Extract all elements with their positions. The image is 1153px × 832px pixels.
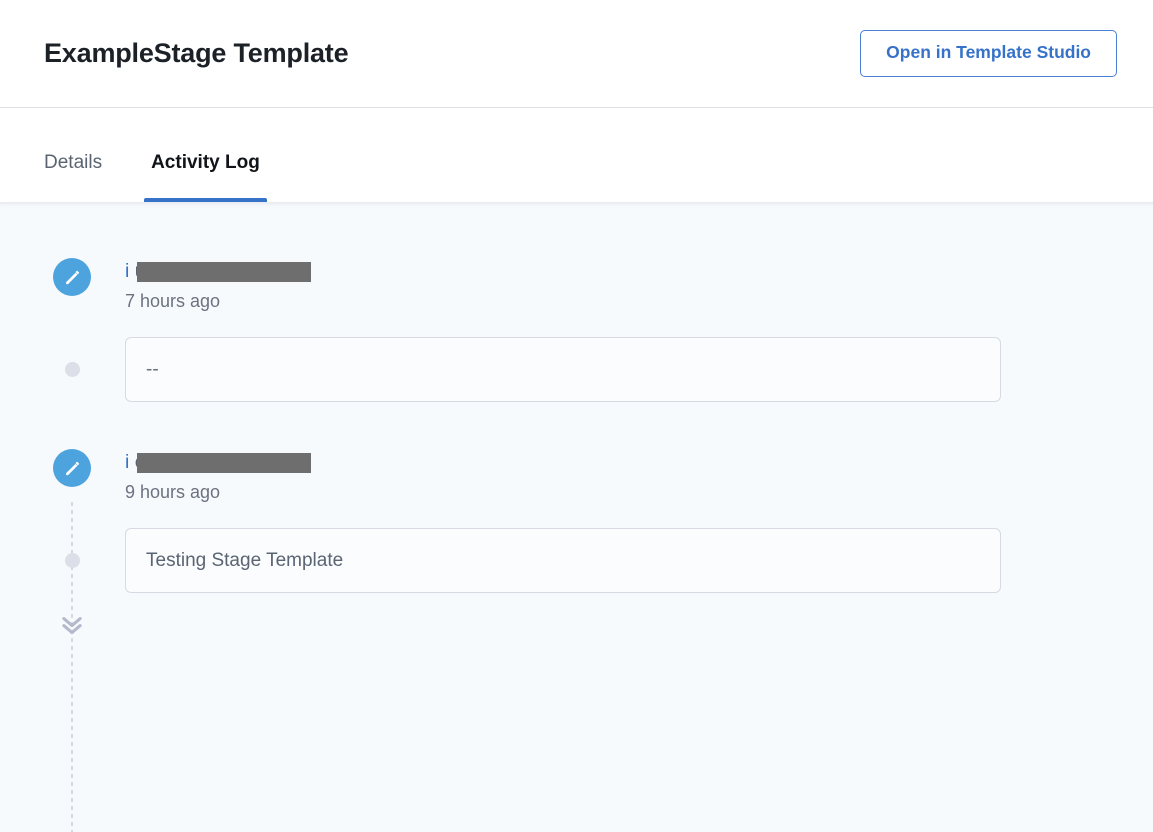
activity-entry-header: i created v1 9 hours ago [0, 449, 1153, 503]
pencil-icon [62, 267, 82, 287]
activity-log-panel: i updated v1 7 hours ago -- [0, 202, 1153, 832]
action-verb: created [135, 451, 205, 473]
load-more-row [0, 611, 1153, 651]
version-link[interactable]: v1 [205, 451, 226, 473]
actor-name-text: i [125, 260, 129, 282]
activity-note-card: -- [125, 337, 1001, 402]
tab-bar: Details Activity Log [0, 108, 1153, 202]
activity-entry-summary: i updated v1 [125, 258, 231, 284]
entry-spacer [0, 402, 1153, 449]
timeline-dot [65, 553, 80, 568]
actor-name-text: i [125, 451, 129, 473]
page-title: ExampleStage Template [44, 38, 348, 69]
action-verb: updated [135, 260, 211, 282]
avatar [53, 258, 91, 296]
avatar [53, 449, 91, 487]
activity-entry-body: Testing Stage Template [0, 528, 1153, 593]
page-header: ExampleStage Template Open in Template S… [0, 0, 1153, 108]
activity-timestamp: 9 hours ago [125, 481, 226, 503]
activity-entry-summary: i created v1 [125, 449, 226, 475]
activity-note-card: Testing Stage Template [125, 528, 1001, 593]
actor-name-link[interactable]: i [125, 260, 135, 282]
activity-entry-header: i updated v1 7 hours ago [0, 258, 1153, 312]
version-link[interactable]: v1 [211, 260, 232, 282]
pencil-icon [62, 458, 82, 478]
timeline-dot [65, 362, 80, 377]
template-detail-page: ExampleStage Template Open in Template S… [0, 0, 1153, 832]
header-actions: Open in Template Studio [860, 30, 1117, 77]
double-chevron-down-icon[interactable] [58, 611, 86, 644]
tab-details[interactable]: Details [44, 108, 102, 202]
actor-name-link[interactable]: i [125, 451, 135, 473]
activity-entry-body: -- [0, 337, 1153, 402]
activity-timeline: i updated v1 7 hours ago -- [0, 202, 1153, 651]
activity-entry: i updated v1 7 hours ago -- [0, 258, 1153, 402]
activity-entry-text: i updated v1 7 hours ago [125, 258, 231, 312]
activity-entry-text: i created v1 9 hours ago [125, 449, 226, 503]
open-in-template-studio-button[interactable]: Open in Template Studio [860, 30, 1117, 77]
activity-entry: i created v1 9 hours ago Testing Stage T… [0, 449, 1153, 593]
activity-timestamp: 7 hours ago [125, 290, 231, 312]
tab-activity-log[interactable]: Activity Log [148, 108, 263, 202]
